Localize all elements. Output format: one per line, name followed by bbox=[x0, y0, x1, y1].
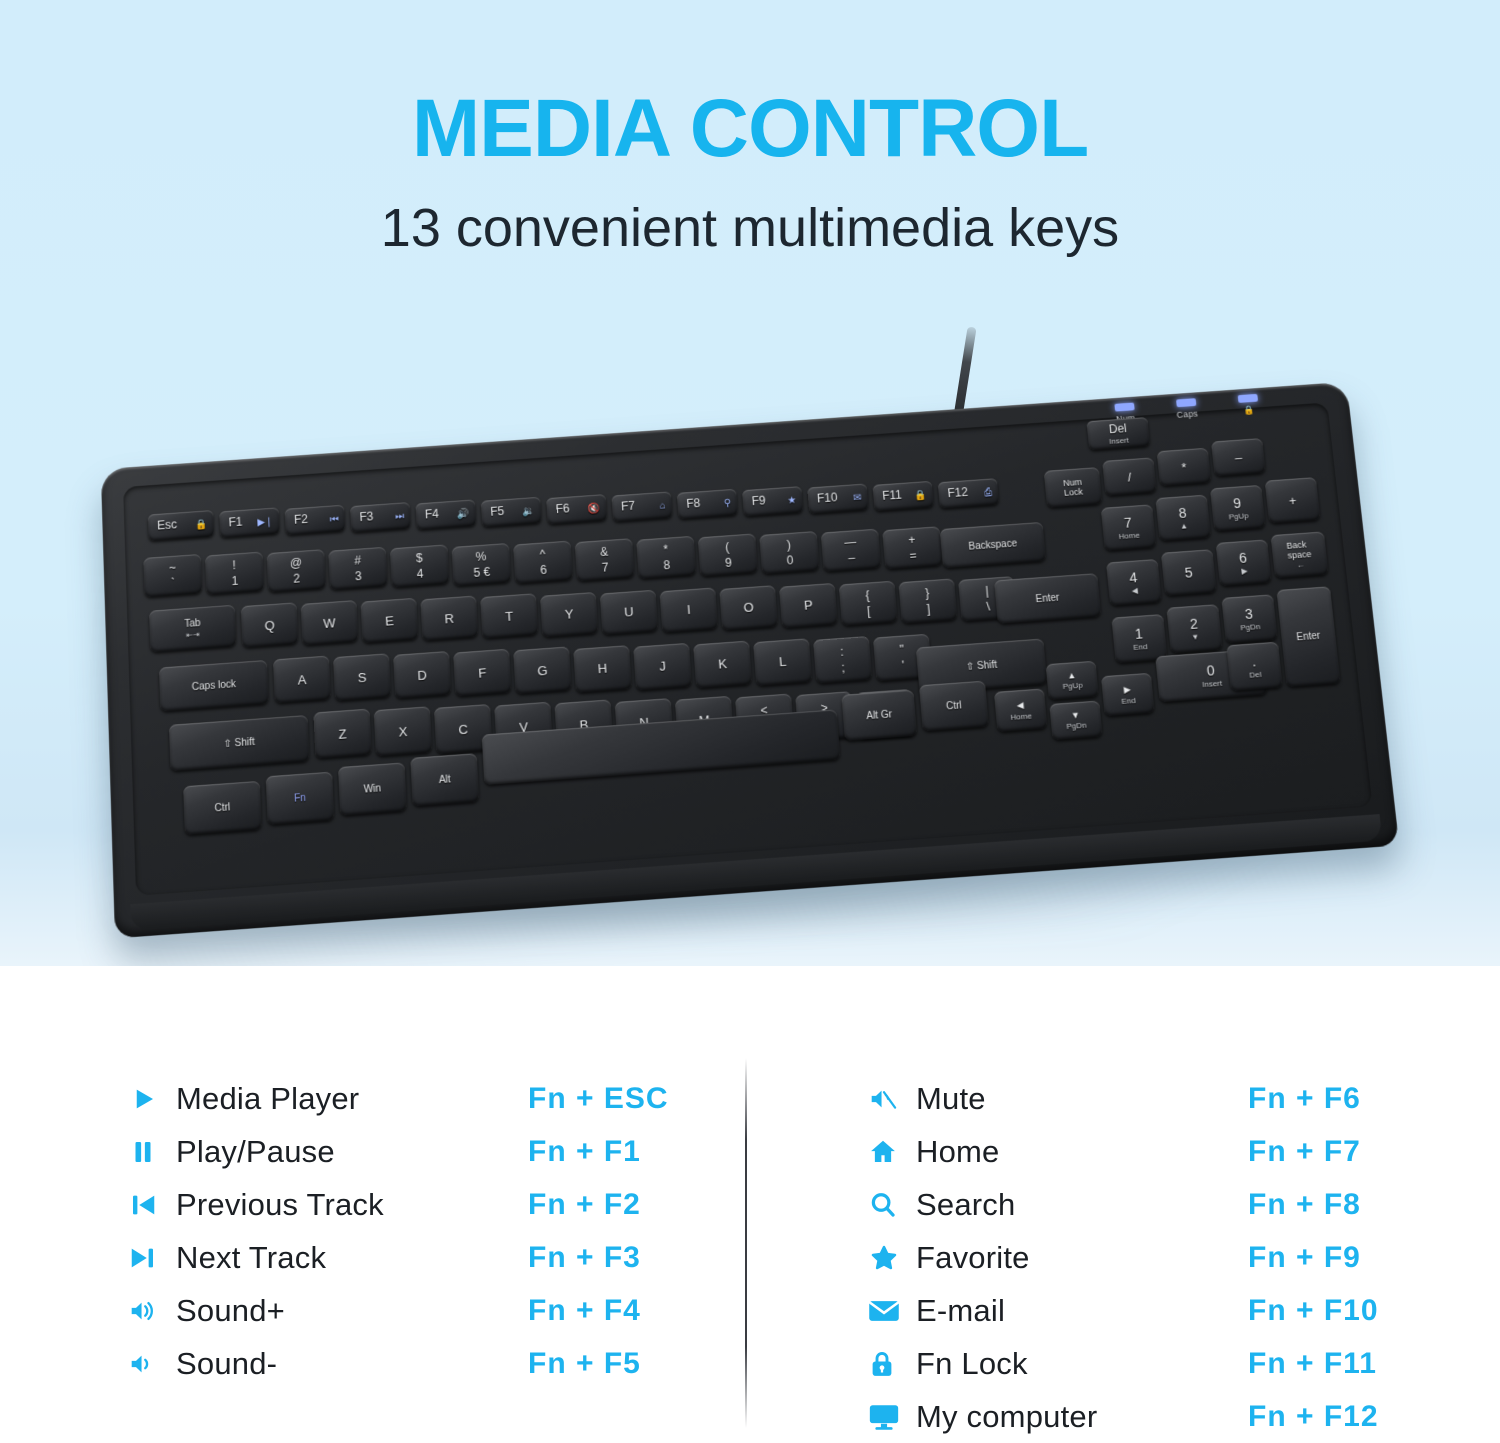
key-j[interactable]: J bbox=[633, 642, 692, 690]
key-arrow-down[interactable]: ▼PgDn bbox=[1049, 701, 1102, 741]
key-fn[interactable]: Fn bbox=[266, 772, 335, 825]
key-label: 5 bbox=[1184, 564, 1193, 580]
key-ctrl-right[interactable]: Ctrl bbox=[919, 681, 989, 732]
play-pause-icon: ▶❘ bbox=[257, 516, 273, 528]
key-label: 4 bbox=[416, 567, 423, 581]
key-label: Fn bbox=[294, 792, 306, 804]
legend-row: SearchFn + F8 bbox=[868, 1178, 1468, 1231]
key-d[interactable]: D bbox=[393, 651, 451, 699]
key-label: I bbox=[686, 602, 691, 617]
key-shift-label: # bbox=[354, 554, 361, 568]
legend-row: Previous TrackFn + F2 bbox=[128, 1178, 728, 1231]
key-label: 6 bbox=[1238, 550, 1247, 566]
home-icon bbox=[868, 1137, 916, 1167]
key-label: 9 bbox=[725, 556, 733, 570]
volume-down-icon bbox=[128, 1349, 176, 1379]
key-o[interactable]: O bbox=[719, 585, 778, 630]
key-sublabel: Insert bbox=[1109, 436, 1130, 446]
email-icon: ✉ bbox=[853, 492, 862, 503]
pause-icon bbox=[128, 1137, 176, 1167]
key-sublabel: PgUp bbox=[1228, 511, 1249, 521]
key-sublabel: PgDn bbox=[1066, 721, 1087, 731]
key-sublabel: ▲ bbox=[1180, 521, 1189, 530]
key-label: Z bbox=[338, 726, 347, 742]
key-shift-label: : bbox=[840, 645, 844, 659]
key-q[interactable]: Q bbox=[241, 602, 299, 647]
legend-label: Previous Track bbox=[176, 1187, 528, 1223]
key-i[interactable]: I bbox=[660, 587, 719, 632]
key-label: + bbox=[1288, 493, 1297, 508]
key-shift-label: & bbox=[600, 544, 609, 558]
lock-icon bbox=[868, 1349, 916, 1379]
email-icon bbox=[868, 1296, 916, 1326]
legend-row: HomeFn + F7 bbox=[868, 1125, 1468, 1178]
key-numpad-slash[interactable]: / bbox=[1102, 457, 1157, 495]
favorite-star-icon bbox=[868, 1243, 916, 1273]
key-s[interactable]: S bbox=[333, 653, 391, 701]
key-shift-label: } bbox=[925, 586, 930, 600]
led-light bbox=[1176, 398, 1196, 407]
key-label: \ bbox=[986, 600, 991, 614]
key-sublabel: Home bbox=[1118, 531, 1140, 541]
key-num-4[interactable]: $4 bbox=[390, 545, 450, 588]
arrow-left-icon: ◀ bbox=[1016, 699, 1024, 710]
key-f6[interactable]: F6🔇 bbox=[546, 494, 607, 524]
key-label: 1 bbox=[231, 574, 238, 588]
key-shift-label: | bbox=[985, 584, 989, 598]
key-label: Backspace bbox=[1286, 539, 1312, 560]
legend-row: Media PlayerFn + ESC bbox=[128, 1072, 728, 1125]
key-label: 4 bbox=[1129, 569, 1138, 585]
favorite-icon: ★ bbox=[787, 495, 797, 506]
arrow-down-icon: ▼ bbox=[1071, 710, 1081, 721]
key-numpad-backspace[interactable]: Backspace← bbox=[1270, 531, 1328, 578]
key-label: 0 bbox=[1206, 662, 1215, 678]
key-label: 7 bbox=[1123, 515, 1132, 531]
key-num-11[interactable]: —– bbox=[821, 529, 882, 572]
legend-label: Next Track bbox=[176, 1240, 528, 1276]
key-arrow-right[interactable]: ▶End bbox=[1101, 673, 1155, 716]
key-label: 3 bbox=[355, 569, 362, 583]
volume-up-icon bbox=[128, 1296, 176, 1326]
key-label: G bbox=[537, 663, 548, 679]
legend-shortcut: Fn + F3 bbox=[528, 1241, 728, 1275]
key-num-6[interactable]: ^6 bbox=[513, 540, 573, 583]
key-label: F6 bbox=[555, 502, 570, 515]
legend-shortcut: Fn + F7 bbox=[1248, 1135, 1468, 1169]
key-label: Win bbox=[363, 783, 381, 795]
key-label: Shift bbox=[977, 659, 998, 671]
key-bracket-1[interactable]: }] bbox=[898, 578, 957, 623]
legend-label: Sound- bbox=[176, 1346, 528, 1382]
legend-shortcut: Fn + F12 bbox=[1248, 1400, 1468, 1434]
key-numpad-minus[interactable]: – bbox=[1211, 438, 1266, 476]
key-win[interactable]: Win bbox=[338, 762, 407, 815]
key-label: Ctrl bbox=[214, 802, 230, 814]
fn-lock-indicator: 🔒 bbox=[1238, 394, 1260, 416]
key-label: F bbox=[478, 665, 487, 680]
key-num-5[interactable]: %5 € bbox=[451, 542, 511, 585]
legend-label: Media Player bbox=[176, 1081, 528, 1117]
key-label: 7 bbox=[601, 560, 609, 574]
shift-arrow-icon: ⇧ bbox=[223, 738, 232, 750]
legend-shortcut: Fn + ESC bbox=[528, 1082, 728, 1116]
key-label: 5 € bbox=[473, 564, 490, 579]
legend-left-column: Media PlayerFn + ESCPlay/PauseFn + F1Pre… bbox=[128, 1072, 728, 1390]
mute-icon bbox=[868, 1084, 916, 1114]
key-numpad-2[interactable]: 2▼ bbox=[1166, 604, 1222, 653]
key-enter[interactable]: Enter bbox=[994, 573, 1101, 624]
key-label: F8 bbox=[686, 497, 701, 510]
key-shift-label: ! bbox=[232, 558, 236, 572]
key-label: Caps lock bbox=[192, 679, 236, 693]
key-z[interactable]: Z bbox=[313, 709, 371, 759]
key-numpad-3[interactable]: 3PgDn bbox=[1221, 594, 1277, 643]
key-label: Y bbox=[564, 606, 574, 621]
legend-row: Play/PauseFn + F1 bbox=[128, 1125, 728, 1178]
key-numpad-8[interactable]: 8▲ bbox=[1155, 495, 1211, 541]
key-f1[interactable]: F1▶❘ bbox=[219, 507, 280, 538]
key-shift-label: { bbox=[865, 588, 870, 602]
key-label: F4 bbox=[425, 508, 439, 521]
led-label: Caps bbox=[1176, 409, 1198, 420]
legend-row: Sound-Fn + F5 bbox=[128, 1337, 728, 1390]
key-arrow-left[interactable]: ◀Home bbox=[994, 688, 1048, 732]
key-label: A bbox=[297, 672, 306, 688]
home-icon: ⌂ bbox=[659, 500, 666, 511]
key-shift-label: — bbox=[844, 535, 857, 550]
key-shift-label: @ bbox=[290, 556, 303, 571]
key-label: W bbox=[323, 615, 336, 631]
key-label: 8 bbox=[663, 558, 671, 572]
key-label: F7 bbox=[621, 500, 636, 513]
caps-lock-indicator: Caps bbox=[1175, 398, 1199, 421]
lock-icon: 🔒 bbox=[914, 490, 927, 502]
key-label: 6 bbox=[540, 563, 547, 577]
key-label: 0 bbox=[786, 553, 794, 567]
key-f[interactable]: F bbox=[453, 649, 511, 697]
legend-label: My computer bbox=[916, 1399, 1248, 1435]
key-label: 1 bbox=[1134, 625, 1143, 641]
tab-arrows-icon: ⇤⇥ bbox=[186, 629, 200, 639]
key-r[interactable]: R bbox=[420, 596, 478, 641]
key-shift-label: * bbox=[663, 542, 669, 556]
keyboard: Num Caps 🔒 Esc🔒F1▶❘F2⏮F3⏭F4🔊F5🔉F6🔇F7⌂F8⚲… bbox=[101, 382, 1400, 939]
key-label: ' bbox=[902, 658, 905, 672]
key-shift-label: ^ bbox=[539, 547, 545, 561]
key-label: Tab bbox=[184, 618, 200, 630]
key-label: Enter bbox=[1296, 630, 1321, 643]
volume-up-icon: 🔊 bbox=[457, 508, 470, 520]
key-w[interactable]: W bbox=[301, 600, 359, 645]
key-label: Alt bbox=[439, 774, 451, 786]
key-label: ; bbox=[841, 661, 845, 675]
key-label: Ctrl bbox=[946, 700, 963, 712]
key-shift-label: % bbox=[475, 549, 486, 563]
key-label: Backspace bbox=[968, 538, 1017, 552]
legend-shortcut: Fn + F8 bbox=[1248, 1188, 1468, 1222]
my-computer-icon: ⎙ bbox=[984, 487, 993, 498]
shift-arrow-icon: ⇧ bbox=[966, 661, 975, 673]
key-label: D bbox=[417, 667, 427, 683]
key-num-12[interactable]: += bbox=[882, 526, 943, 569]
legend-shortcut: Fn + F5 bbox=[528, 1347, 728, 1381]
key-label: F3 bbox=[359, 510, 373, 523]
key-sublabel: ▼ bbox=[1191, 632, 1200, 641]
key-label: H bbox=[597, 661, 607, 677]
key-f3[interactable]: F3⏭ bbox=[350, 502, 411, 532]
key-sublabel: PgDn bbox=[1240, 622, 1261, 632]
legend-label: Sound+ bbox=[176, 1293, 528, 1329]
key-label: / bbox=[1127, 469, 1132, 484]
key-del-insert[interactable]: DelInsert bbox=[1086, 417, 1150, 450]
legend-row: My computerFn + F12 bbox=[868, 1390, 1468, 1443]
legend-row: Next TrackFn + F3 bbox=[128, 1231, 728, 1284]
key-label: F1 bbox=[228, 516, 242, 529]
key-label: 9 bbox=[1233, 495, 1242, 511]
key-label: T bbox=[505, 609, 514, 624]
key-tab[interactable]: Tab⇤⇥ bbox=[149, 605, 236, 653]
key-sublabel: Del bbox=[1249, 670, 1262, 680]
legend-shortcut: Fn + F4 bbox=[528, 1294, 728, 1328]
key-label: 2 bbox=[1189, 616, 1198, 632]
arrow-up-icon: ▲ bbox=[1067, 670, 1077, 681]
fn-lock-icon: 🔒 bbox=[195, 519, 208, 531]
key-label: F11 bbox=[882, 489, 902, 502]
key-num-1[interactable]: !1 bbox=[205, 552, 264, 595]
key-label: NumLock bbox=[1063, 477, 1084, 498]
legend-label: Search bbox=[916, 1187, 1248, 1223]
key-esc[interactable]: Esc🔒 bbox=[148, 510, 214, 541]
monitor-icon bbox=[868, 1402, 916, 1432]
key-label: Esc bbox=[157, 518, 177, 531]
next-track-icon bbox=[128, 1243, 176, 1273]
key-num-2[interactable]: @2 bbox=[267, 549, 326, 592]
legend-right-column: MuteFn + F6HomeFn + F7SearchFn + F8Favor… bbox=[868, 1072, 1468, 1443]
key-shift-label: ) bbox=[786, 538, 791, 552]
key-label: O bbox=[743, 600, 754, 616]
key-f10[interactable]: F10✉ bbox=[807, 483, 868, 513]
key-numpad-enter[interactable]: Enter bbox=[1276, 586, 1340, 687]
key-f9[interactable]: F9★ bbox=[742, 486, 803, 516]
keyboard-stage: Num Caps 🔒 Esc🔒F1▶❘F2⏮F3⏭F4🔊F5🔉F6🔇F7⌂F8⚲… bbox=[0, 300, 1500, 966]
key-u[interactable]: U bbox=[600, 589, 658, 634]
key-f5[interactable]: F5🔉 bbox=[481, 497, 542, 527]
legend-label: Play/Pause bbox=[176, 1134, 528, 1170]
legend-label: Fn Lock bbox=[916, 1346, 1248, 1382]
key-label: – bbox=[848, 551, 856, 565]
key-label: F5 bbox=[490, 505, 505, 518]
page-subtitle: 13 convenient multimedia keys bbox=[0, 196, 1500, 261]
key-label: J bbox=[659, 659, 666, 674]
key-sublabel: Home bbox=[1010, 711, 1032, 722]
key-alt-left[interactable]: Alt bbox=[410, 753, 479, 806]
key-g[interactable]: G bbox=[513, 647, 572, 695]
key-label: K bbox=[718, 656, 728, 672]
key-sublabel: ◀ bbox=[1131, 586, 1138, 595]
backspace-arrow-icon: ← bbox=[1296, 560, 1305, 569]
legend-label: Mute bbox=[916, 1081, 1248, 1117]
key-label: – bbox=[1234, 450, 1243, 465]
key-alt-gr[interactable]: Alt Gr bbox=[841, 690, 917, 741]
key-y[interactable]: Y bbox=[540, 591, 598, 636]
legend-shortcut: Fn + F10 bbox=[1248, 1294, 1468, 1328]
key-ctrl-left[interactable]: Ctrl bbox=[183, 781, 262, 835]
key-f11[interactable]: F11🔒 bbox=[873, 481, 934, 511]
key-e[interactable]: E bbox=[361, 598, 419, 643]
key-f7[interactable]: F7⌂ bbox=[611, 491, 672, 521]
key-num-9[interactable]: (9 bbox=[698, 533, 758, 576]
key-label: R bbox=[444, 611, 454, 626]
legend-shortcut: Fn + F11 bbox=[1248, 1347, 1468, 1381]
previous-track-icon bbox=[128, 1190, 176, 1220]
key-sublabel: Insert bbox=[1202, 679, 1223, 689]
key-label: Enter bbox=[1035, 592, 1060, 605]
key-numpad-asterisk[interactable]: * bbox=[1157, 448, 1212, 486]
key-label: [ bbox=[867, 604, 871, 618]
key-label: F10 bbox=[817, 491, 838, 504]
key-sublabel: PgUp bbox=[1062, 681, 1083, 691]
key-label: Q bbox=[264, 617, 275, 633]
key-label: C bbox=[458, 721, 468, 737]
legend-shortcut: Fn + F2 bbox=[528, 1188, 728, 1222]
key-label: = bbox=[909, 549, 917, 563]
key-shift-label: ~ bbox=[169, 561, 176, 575]
mute-icon: 🔇 bbox=[588, 503, 601, 515]
key-a[interactable]: A bbox=[273, 656, 331, 704]
key-f12[interactable]: F12⎙ bbox=[938, 478, 999, 508]
key-num-lock[interactable]: NumLock bbox=[1044, 467, 1103, 508]
key-shift-label: " bbox=[899, 642, 904, 656]
key-label: Del bbox=[1108, 421, 1127, 436]
legend-row: MuteFn + F6 bbox=[868, 1072, 1468, 1125]
key-numpad-7[interactable]: 7Home bbox=[1101, 504, 1157, 551]
key-punct-0[interactable]: :; bbox=[813, 636, 872, 684]
key-num-0[interactable]: ~` bbox=[143, 554, 202, 597]
led-light bbox=[1114, 403, 1134, 412]
arrow-right-icon: ▶ bbox=[1123, 684, 1131, 695]
play-icon bbox=[128, 1084, 176, 1114]
key-label: Shift bbox=[234, 736, 255, 748]
key-label: X bbox=[398, 724, 407, 740]
key-label: * bbox=[1181, 459, 1187, 474]
key-shift-label: ( bbox=[725, 540, 730, 554]
legend-row: Sound+Fn + F4 bbox=[128, 1284, 728, 1337]
key-f2[interactable]: F2⏮ bbox=[285, 505, 346, 536]
key-numpad-5[interactable]: 5 bbox=[1161, 549, 1217, 596]
hero-panel: MEDIA CONTROL 13 convenient multimedia k… bbox=[0, 0, 1500, 966]
key-label: ` bbox=[171, 576, 175, 590]
key-label: P bbox=[803, 598, 813, 613]
key-backspace[interactable]: Backspace bbox=[940, 522, 1046, 568]
legend-label: Favorite bbox=[916, 1240, 1248, 1276]
key-x[interactable]: X bbox=[374, 706, 433, 756]
key-label: . bbox=[1251, 653, 1257, 669]
legend-divider bbox=[745, 1058, 747, 1428]
key-num-7[interactable]: &7 bbox=[575, 538, 635, 581]
key-numpad-6[interactable]: 6▶ bbox=[1216, 539, 1272, 586]
legend-shortcut: Fn + F9 bbox=[1248, 1241, 1468, 1275]
search-icon bbox=[868, 1190, 916, 1220]
key-sublabel: End bbox=[1133, 642, 1148, 652]
key-label: U bbox=[624, 604, 634, 619]
search-icon: ⚲ bbox=[723, 497, 731, 508]
key-label: L bbox=[778, 654, 786, 669]
key-numpad-4[interactable]: 4◀ bbox=[1106, 559, 1162, 606]
key-p[interactable]: P bbox=[779, 583, 838, 628]
key-label: F9 bbox=[751, 495, 766, 508]
key-num-8[interactable]: *8 bbox=[636, 536, 696, 579]
key-shift-label: $ bbox=[416, 551, 423, 565]
key-bracket-0[interactable]: {[ bbox=[839, 581, 898, 626]
key-t[interactable]: T bbox=[480, 594, 538, 639]
led-label: 🔒 bbox=[1239, 404, 1260, 416]
key-label: F12 bbox=[947, 486, 968, 499]
key-num-10[interactable]: )0 bbox=[759, 531, 819, 574]
key-f4[interactable]: F4🔊 bbox=[415, 499, 476, 529]
volume-down-icon: 🔉 bbox=[522, 505, 535, 517]
key-caps-lock[interactable]: Caps lock bbox=[159, 660, 269, 712]
key-sublabel: End bbox=[1121, 695, 1136, 705]
key-label: 8 bbox=[1178, 505, 1187, 521]
legend-label: Home bbox=[916, 1134, 1248, 1170]
key-sublabel: ▶ bbox=[1241, 566, 1248, 575]
key-label: ] bbox=[926, 602, 930, 616]
previous-track-icon: ⏮ bbox=[330, 513, 339, 524]
key-numpad-plus[interactable]: + bbox=[1265, 477, 1321, 523]
key-label: E bbox=[385, 613, 394, 628]
key-f8[interactable]: F8⚲ bbox=[677, 489, 738, 519]
led-light bbox=[1238, 394, 1258, 403]
key-l[interactable]: L bbox=[753, 638, 812, 686]
key-arrow-up[interactable]: ▲PgUp bbox=[1046, 661, 1099, 700]
legend-label: E-mail bbox=[916, 1293, 1248, 1329]
key-k[interactable]: K bbox=[693, 640, 752, 688]
legend-row: E-mailFn + F10 bbox=[868, 1284, 1468, 1337]
key-num-3[interactable]: #3 bbox=[328, 547, 387, 590]
legend-shortcut: Fn + F6 bbox=[1248, 1082, 1468, 1116]
legend-row: Fn LockFn + F11 bbox=[868, 1337, 1468, 1390]
key-label: Alt Gr bbox=[866, 709, 892, 722]
key-label: 3 bbox=[1244, 606, 1253, 622]
key-shift-label: + bbox=[908, 533, 916, 547]
key-numpad-9[interactable]: 9PgUp bbox=[1210, 485, 1266, 531]
next-track-icon: ⏭ bbox=[395, 511, 404, 522]
legend-shortcut: Fn + F1 bbox=[528, 1135, 728, 1169]
key-label: 2 bbox=[293, 572, 300, 586]
page-title: MEDIA CONTROL bbox=[0, 88, 1500, 170]
legend-row: FavoriteFn + F9 bbox=[868, 1231, 1468, 1284]
key-numpad-period[interactable]: .Del bbox=[1226, 642, 1283, 691]
key-h[interactable]: H bbox=[573, 645, 632, 693]
key-label: S bbox=[357, 669, 366, 685]
key-label: F2 bbox=[294, 513, 308, 526]
